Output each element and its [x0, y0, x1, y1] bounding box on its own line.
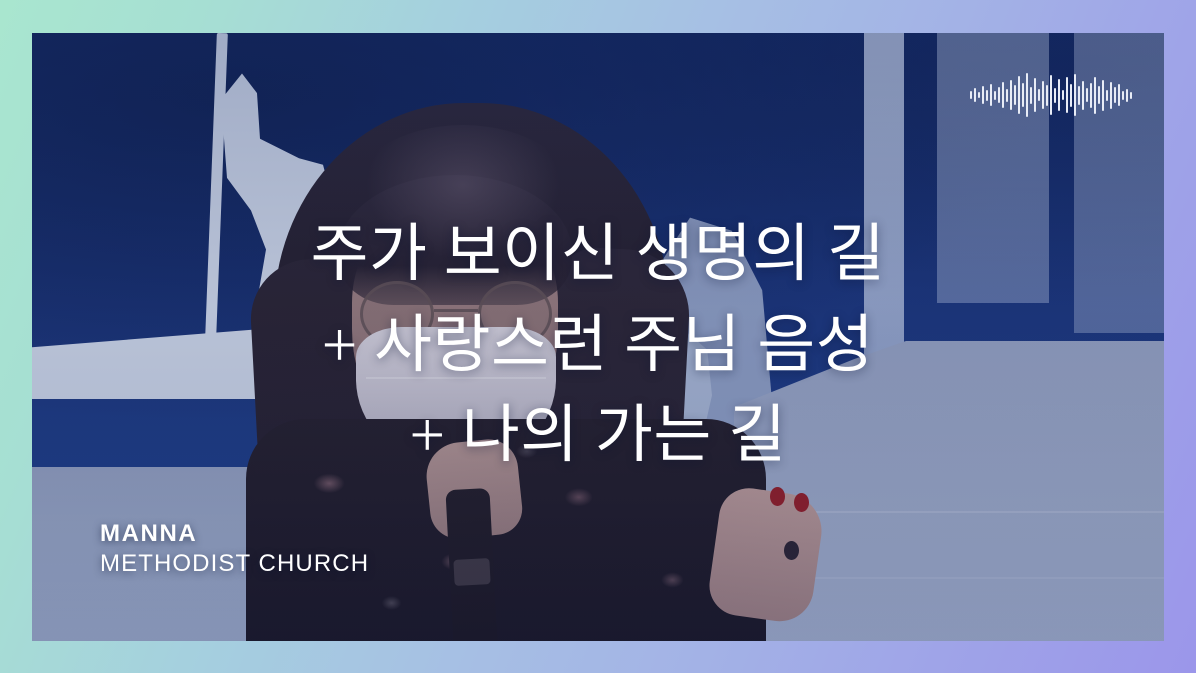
waveform-bar [1118, 84, 1120, 106]
waveform-bar [1006, 89, 1008, 102]
waveform-bar [1046, 85, 1048, 106]
waveform-bar [1074, 74, 1076, 116]
fingernail [784, 541, 799, 560]
waveform-bar [1086, 88, 1088, 102]
fingernail [770, 487, 785, 506]
video-frame: 주가 보이신 생명의 길 + 사랑스런 주님 음성 + 나의 가는 길 MANN… [32, 33, 1164, 641]
church-wordmark: MANNA METHODIST CHURCH [100, 519, 369, 579]
slide-canvas: 주가 보이신 생명의 길 + 사랑스런 주님 음성 + 나의 가는 길 MANN… [0, 0, 1196, 673]
waveform-bar [978, 92, 980, 98]
waveform-bar [998, 87, 1000, 103]
fingernail [794, 493, 809, 512]
waveform-bar [1106, 90, 1108, 101]
waveform-bar [1054, 88, 1056, 103]
waveform-bar [1062, 90, 1064, 100]
lyric-line-3: + 나의 가는 길 [32, 390, 1164, 481]
waveform-bar [1050, 75, 1052, 115]
waveform-bar [1026, 73, 1028, 117]
waveform-bar [1114, 87, 1116, 103]
waveform-bar [1066, 77, 1068, 113]
waveform-bar [1082, 81, 1084, 110]
lyric-line-1: 주가 보이신 생명의 길 [32, 209, 1164, 300]
waveform-bar [1110, 82, 1112, 109]
waveform-bar [1014, 85, 1016, 105]
waveform-bar [990, 84, 992, 106]
waveform-bar [994, 91, 996, 100]
waveform-bar [1010, 80, 1012, 110]
waveform-bar [986, 90, 988, 101]
audio-waveform-icon [970, 71, 1132, 119]
waveform-bar [1058, 79, 1060, 111]
waveform-bar [1122, 91, 1124, 100]
waveform-bar [1130, 92, 1132, 99]
waveform-bar [1034, 78, 1036, 112]
lyric-line-2: + 사랑스런 주님 음성 [32, 300, 1164, 391]
waveform-bar [1126, 89, 1128, 102]
waveform-bar [1094, 77, 1096, 114]
lyrics-overlay: 주가 보이신 생명의 길 + 사랑스런 주님 음성 + 나의 가는 길 [32, 209, 1164, 481]
waveform-bar [1002, 82, 1004, 108]
waveform-bar [970, 91, 972, 99]
wordmark-secondary: METHODIST CHURCH [100, 549, 369, 579]
waveform-bar [1102, 80, 1104, 111]
waveform-bar [1038, 89, 1040, 101]
waveform-bar [1098, 86, 1100, 104]
waveform-bar [1070, 84, 1072, 107]
wordmark-primary: MANNA [100, 519, 369, 549]
waveform-bar [1090, 83, 1092, 108]
waveform-bar [1042, 81, 1044, 109]
waveform-bar [1018, 76, 1020, 114]
waveform-bar [982, 86, 984, 104]
waveform-bar [1022, 83, 1024, 107]
waveform-bar [1030, 87, 1032, 104]
microphone-band [453, 558, 490, 586]
waveform-bar [1078, 86, 1080, 105]
waveform-bar [974, 88, 976, 102]
